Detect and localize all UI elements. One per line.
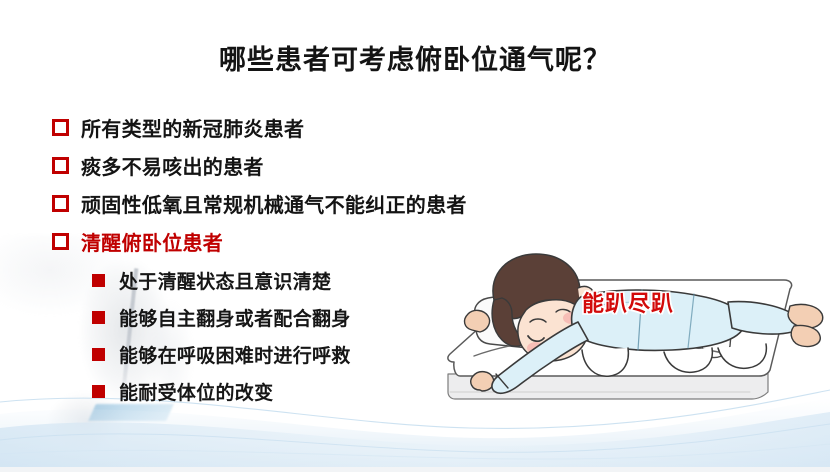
sub-bullet-label: 能耐受体位的改变 — [119, 378, 273, 405]
prone-position-illustration — [432, 244, 830, 422]
solid-square-bullet-icon — [92, 385, 105, 398]
bullet-item: 所有类型的新冠肺炎患者 — [52, 108, 522, 146]
bullet-item: 痰多不易咳出的患者 — [52, 146, 522, 184]
bullet-label: 顽固性低氧且常规机械通气不能纠正的患者 — [81, 189, 467, 218]
bullet-label: 所有类型的新冠肺炎患者 — [81, 113, 304, 142]
primary-bullet-list: 所有类型的新冠肺炎患者 痰多不易咳出的患者 顽固性低氧且常规机械通气不能纠正的患… — [52, 108, 522, 260]
hollow-square-bullet-icon — [52, 119, 69, 136]
sub-bullet-label: 处于清醒状态且意识清楚 — [119, 267, 331, 294]
slide-canvas: 哪些患者可考虑俯卧位通气呢？ 所有类型的新冠肺炎患者 痰多不易咳出的患者 顽固性… — [0, 0, 830, 472]
hollow-square-bullet-icon — [52, 157, 69, 174]
sub-bullet-label: 能够在呼吸困难时进行呼救 — [119, 341, 351, 368]
solid-square-bullet-icon — [92, 348, 105, 361]
bullet-item: 顽固性低氧且常规机械通气不能纠正的患者 — [52, 184, 522, 222]
bullet-label: 痰多不易咳出的患者 — [81, 151, 264, 180]
illustration-caption: 能趴尽趴 — [582, 286, 674, 318]
sub-bullet-item: 处于清醒状态且意识清楚 — [92, 262, 432, 299]
solid-square-bullet-icon — [92, 274, 105, 287]
hollow-square-bullet-icon — [52, 233, 69, 250]
bullet-label: 清醒俯卧位患者 — [81, 227, 223, 256]
sub-bullet-item: 能耐受体位的改变 — [92, 373, 432, 410]
sub-bullet-item: 能够在呼吸困难时进行呼救 — [92, 336, 432, 373]
slide-title: 哪些患者可考虑俯卧位通气呢？ — [0, 38, 830, 77]
bottom-edge-strip — [0, 467, 830, 472]
solid-square-bullet-icon — [92, 311, 105, 324]
sub-bullet-label: 能够自主翻身或者配合翻身 — [119, 304, 351, 331]
hollow-square-bullet-icon — [52, 195, 69, 212]
sub-bullet-item: 能够自主翻身或者配合翻身 — [92, 299, 432, 336]
secondary-bullet-list: 处于清醒状态且意识清楚 能够自主翻身或者配合翻身 能够在呼吸困难时进行呼救 能耐… — [92, 262, 432, 410]
